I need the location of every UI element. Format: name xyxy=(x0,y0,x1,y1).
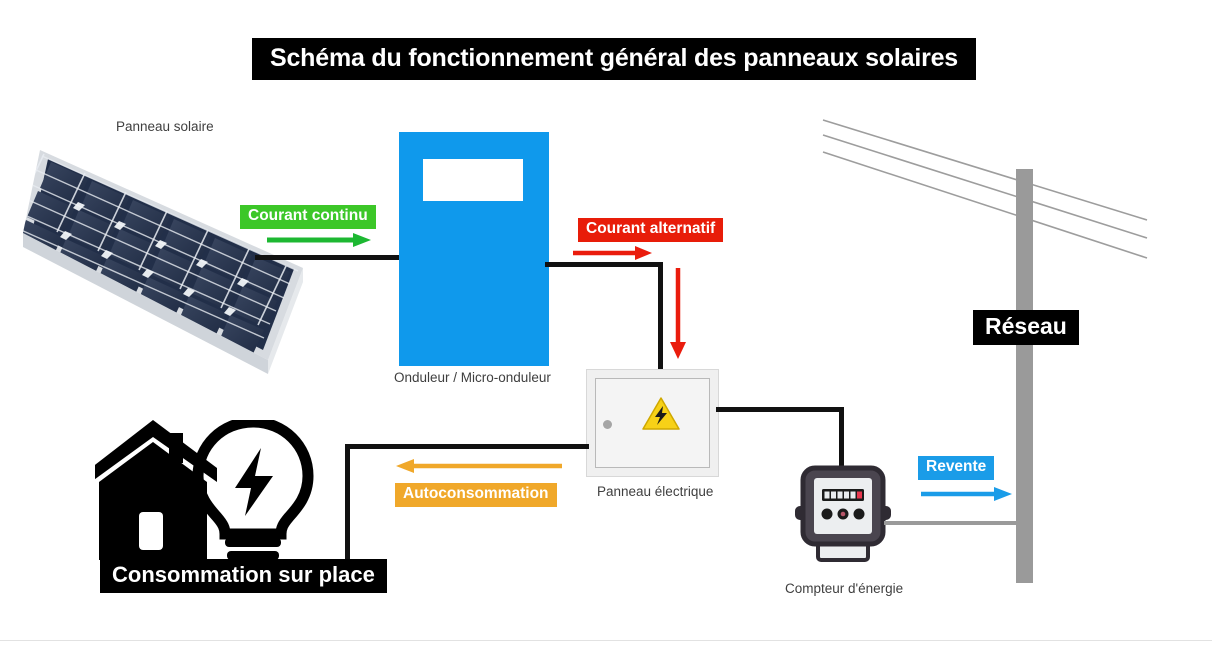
badge-revente: Revente xyxy=(918,456,994,480)
arrow-down-red-icon xyxy=(669,268,687,360)
consumption-icons xyxy=(95,420,335,575)
energy-meter-icon xyxy=(795,462,891,566)
arrow-right-green-icon xyxy=(267,232,372,248)
wire-panel-to-house-v xyxy=(345,444,350,564)
wire-panel-to-inverter xyxy=(255,255,405,260)
electrical-hazard-icon xyxy=(642,397,680,436)
arrow-left-orange-icon xyxy=(396,458,562,474)
power-lines-icon xyxy=(815,110,1155,285)
panel-knob-icon xyxy=(603,420,612,429)
utility-pole-icon xyxy=(1016,169,1033,583)
solar-panel-icon xyxy=(18,138,318,398)
badge-autoconsommation: Autoconsommation xyxy=(395,483,557,507)
bottom-divider xyxy=(0,640,1212,641)
badge-reseau: Réseau xyxy=(973,310,1079,345)
wire-panel-to-meter-v xyxy=(839,407,844,469)
diagram-canvas: Schéma du fonctionnement général des pan… xyxy=(0,0,1212,648)
wire-inverter-out xyxy=(545,262,663,267)
badge-consommation-sur-place: Consommation sur place xyxy=(100,559,387,593)
page-title: Schéma du fonctionnement général des pan… xyxy=(252,38,976,80)
wire-panel-to-house-h xyxy=(345,444,589,449)
electrical-panel-icon xyxy=(586,369,719,477)
wire-meter-to-grid xyxy=(884,521,1020,525)
wire-panel-to-meter-h xyxy=(716,407,844,412)
badge-courant-alternatif: Courant alternatif xyxy=(578,218,723,242)
inverter-icon xyxy=(399,132,549,366)
arrow-right-blue-icon xyxy=(921,486,1013,502)
inverter-label: Onduleur / Micro-onduleur xyxy=(394,370,551,385)
energy-meter-label: Compteur d'énergie xyxy=(785,581,903,596)
solar-panel-label: Panneau solaire xyxy=(116,119,214,134)
badge-courant-continu: Courant continu xyxy=(240,205,376,229)
inverter-display xyxy=(423,159,523,201)
arrow-right-red-icon xyxy=(573,245,653,261)
electrical-panel-label: Panneau électrique xyxy=(597,484,713,499)
wire-inverter-down-to-panel xyxy=(658,262,663,372)
light-bulb-icon xyxy=(198,422,308,570)
